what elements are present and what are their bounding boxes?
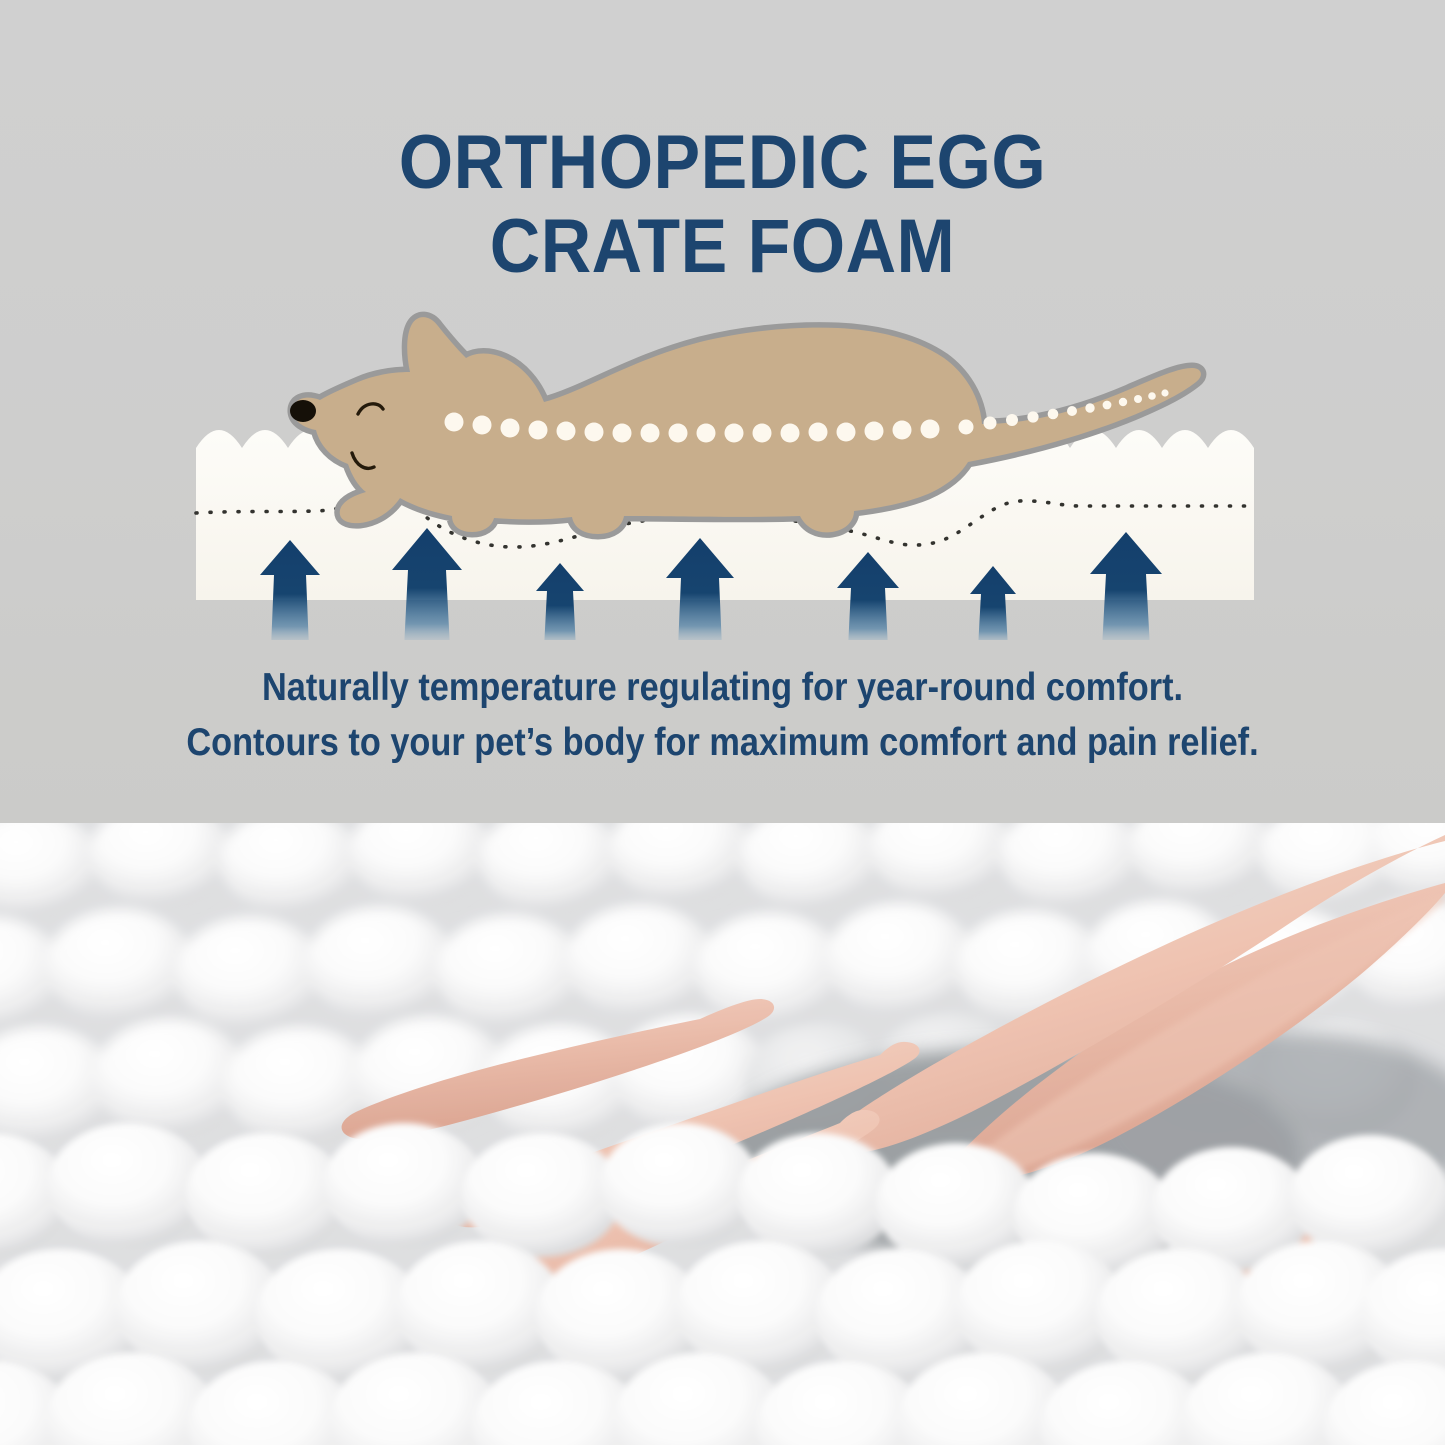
dog-on-foam-illustration (0, 270, 1445, 640)
product-infographic: ORTHOPEDIC EGG CRATE FOAM (0, 0, 1445, 1445)
foam-photo (0, 823, 1445, 1445)
dog-nose (290, 400, 316, 422)
benefit-copy: Naturally temperature regulating for yea… (87, 660, 1359, 770)
benefit-line-2: Contours to your pet’s body for maximum … (87, 715, 1359, 770)
benefit-line-1: Naturally temperature regulating for yea… (87, 660, 1359, 715)
diagram-panel: ORTHOPEDIC EGG CRATE FOAM (0, 0, 1445, 823)
page-title: ORTHOPEDIC EGG CRATE FOAM (58, 121, 1387, 289)
